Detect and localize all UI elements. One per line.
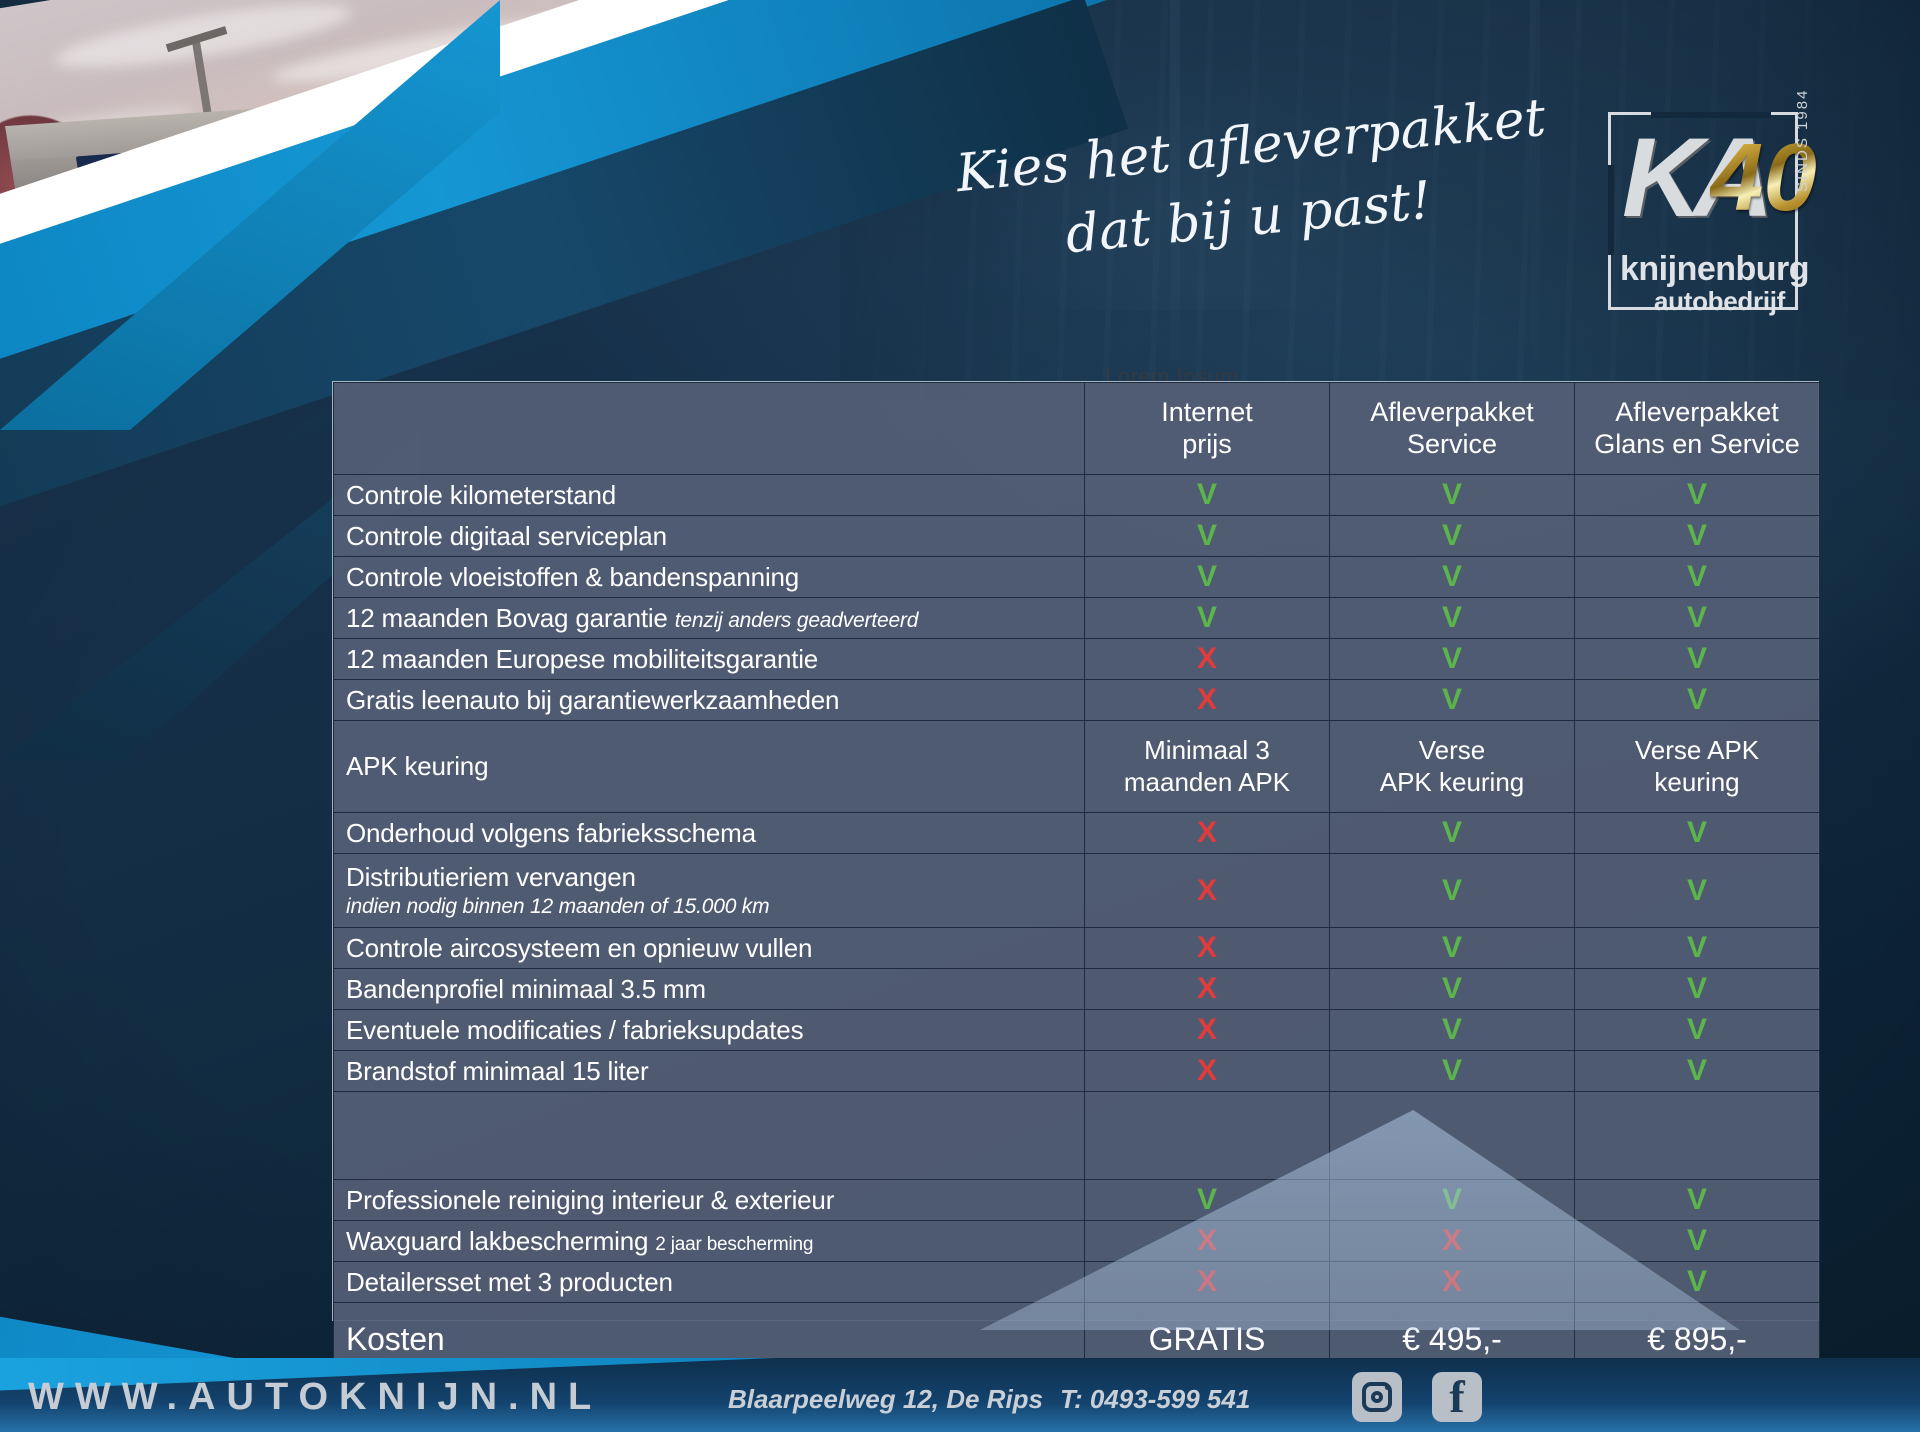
row-label: Distributieriem vervangen: [346, 862, 636, 892]
comparison-table: Internet prijs Afleverpakket Service Afl…: [333, 382, 1820, 1377]
table-row: Detailersset met 3 producten X X V: [334, 1262, 1820, 1303]
table-row: Controle kilometerstand V V V: [334, 475, 1820, 516]
table-row: Controle vloeistoffen & bandenspanning V…: [334, 557, 1820, 598]
row-label: Detailersset met 3 producten: [334, 1262, 1085, 1303]
table-row: Professionele reiniging interieur & exte…: [334, 1180, 1820, 1221]
cell-service: V: [1330, 969, 1575, 1010]
cell-glans: V: [1575, 557, 1820, 598]
row-label: Controle digitaal serviceplan: [334, 516, 1085, 557]
cell-glans: V: [1575, 1221, 1820, 1262]
row-label-with-note: Waxguard lakbescherming 2 jaar beschermi…: [334, 1221, 1085, 1262]
cell-internet: X: [1085, 639, 1330, 680]
row-label: Controle vloeistoffen & bandenspanning: [334, 557, 1085, 598]
row-label: Waxguard lakbescherming: [346, 1226, 648, 1256]
table-header-row: Internet prijs Afleverpakket Service Afl…: [334, 383, 1820, 475]
cell-glans: [1575, 1092, 1820, 1180]
cell-internet: X: [1085, 854, 1330, 928]
cell-service: V: [1330, 680, 1575, 721]
instagram-icon[interactable]: [1352, 1372, 1402, 1422]
cell-service: V: [1330, 813, 1575, 854]
cell-glans: V: [1575, 680, 1820, 721]
row-label-with-note: 12 maanden Bovag garantie tenzij anders …: [334, 598, 1085, 639]
cell-glans-line2: keuring: [1587, 767, 1807, 798]
row-label: 12 maanden Europese mobiliteitsgarantie: [334, 639, 1085, 680]
cell-glans: V: [1575, 969, 1820, 1010]
row-label: 12 maanden Bovag garantie: [346, 603, 668, 633]
row-note: indien nodig binnen 12 maanden of 15.000…: [346, 895, 1072, 919]
row-label: Onderhoud volgens fabrieksschema: [334, 813, 1085, 854]
header-service-line2: Service: [1342, 429, 1562, 461]
cell-service: V: [1330, 516, 1575, 557]
company-address: Blaarpeelweg 12, De Rips: [728, 1384, 1043, 1415]
table-row: Brandstof minimaal 15 liter X V V: [334, 1051, 1820, 1092]
cell-service: X: [1330, 1221, 1575, 1262]
row-note: tenzij anders geadverteerd: [675, 609, 918, 632]
table-row: Gratis leenauto bij garantiewerkzaamhede…: [334, 680, 1820, 721]
cell-glans: V: [1575, 1051, 1820, 1092]
cell-service: V: [1330, 639, 1575, 680]
cell-glans: V: [1575, 639, 1820, 680]
row-label: Controle aircosysteem en opnieuw vullen: [334, 928, 1085, 969]
table-row: Onderhoud volgens fabrieksschema X V V: [334, 813, 1820, 854]
table-row: Waxguard lakbescherming 2 jaar beschermi…: [334, 1221, 1820, 1262]
header-afleverpakket-service: Afleverpakket Service: [1330, 383, 1575, 475]
cell-internet: X: [1085, 969, 1330, 1010]
row-label: Professionele reiniging interieur & exte…: [334, 1180, 1085, 1221]
row-label: [334, 1092, 1085, 1180]
header-afleverpakket-glans-service: Afleverpakket Glans en Service: [1575, 383, 1820, 475]
cell-glans: V: [1575, 813, 1820, 854]
cell-internet: X: [1085, 928, 1330, 969]
cell-internet: Minimaal 3 maanden APK: [1085, 721, 1330, 813]
cell-internet: V: [1085, 598, 1330, 639]
row-label: Gratis leenauto bij garantiewerkzaamhede…: [334, 680, 1085, 721]
cell-glans: Verse APK keuring: [1575, 721, 1820, 813]
cell-internet: X: [1085, 680, 1330, 721]
company-logo: KA 40 knijnenburg autobedrijf SINDS 1984: [1598, 108, 1838, 323]
cell-glans: V: [1575, 475, 1820, 516]
cell-internet: X: [1085, 1262, 1330, 1303]
cell-glans: V: [1575, 1180, 1820, 1221]
footer-baseline: [0, 1432, 1920, 1440]
cell-service: V: [1330, 928, 1575, 969]
header-glans-line2: Glans en Service: [1587, 429, 1807, 461]
cell-service: V: [1330, 854, 1575, 928]
cell-internet: V: [1085, 1180, 1330, 1221]
header-service-line1: Afleverpakket: [1342, 397, 1562, 429]
cell-glans: V: [1575, 1010, 1820, 1051]
page-footer: WWW.AUTOKNIJN.NL Blaarpeelweg 12, De Rip…: [0, 1358, 1920, 1440]
cell-internet: X: [1085, 813, 1330, 854]
table-row-spacer: [334, 1092, 1820, 1180]
cell-service: Verse APK keuring: [1330, 721, 1575, 813]
header-blank: [334, 383, 1085, 475]
cell-glans: V: [1575, 854, 1820, 928]
row-label: Brandstof minimaal 15 liter: [334, 1051, 1085, 1092]
header-internet-line1: Internet: [1097, 397, 1317, 429]
row-label: Controle kilometerstand: [334, 475, 1085, 516]
row-label: Eventuele modificaties / fabrieksupdates: [334, 1010, 1085, 1051]
table-row: Bandenprofiel minimaal 3.5 mm X V V: [334, 969, 1820, 1010]
table-row: 12 maanden Europese mobiliteitsgarantie …: [334, 639, 1820, 680]
table-row: Eventuele modificaties / fabrieksupdates…: [334, 1010, 1820, 1051]
cell-internet-line2: maanden APK: [1097, 767, 1317, 798]
cell-service-line1: Verse: [1342, 735, 1562, 766]
package-comparison-table: Internet prijs Afleverpakket Service Afl…: [332, 381, 1819, 1321]
row-label: APK keuring: [334, 721, 1085, 813]
logo-company-name: knijnenburg: [1620, 250, 1809, 289]
cell-service: V: [1330, 557, 1575, 598]
cell-internet: X: [1085, 1010, 1330, 1051]
cell-service: V: [1330, 475, 1575, 516]
header-glans-line1: Afleverpakket: [1587, 397, 1807, 429]
cell-internet: X: [1085, 1221, 1330, 1262]
website-url[interactable]: WWW.AUTOKNIJN.NL: [28, 1376, 602, 1419]
cell-internet: V: [1085, 516, 1330, 557]
table-row-apk: APK keuring Minimaal 3 maanden APK Verse…: [334, 721, 1820, 813]
row-label-with-note: Distributieriem vervangen indien nodig b…: [334, 854, 1085, 928]
table-row: Controle aircosysteem en opnieuw vullen …: [334, 928, 1820, 969]
cell-glans: V: [1575, 516, 1820, 557]
cell-internet-line1: Minimaal 3: [1097, 735, 1317, 766]
logo-since-text: SINDS 1984: [1794, 89, 1811, 192]
cell-internet: X: [1085, 1051, 1330, 1092]
company-phone[interactable]: T: 0493-599 541: [1060, 1384, 1250, 1415]
cell-service: [1330, 1092, 1575, 1180]
cell-service: X: [1330, 1262, 1575, 1303]
cell-service: V: [1330, 1010, 1575, 1051]
row-label: Bandenprofiel minimaal 3.5 mm: [334, 969, 1085, 1010]
cell-glans: V: [1575, 928, 1820, 969]
cell-service: V: [1330, 1180, 1575, 1221]
header-internet-prijs: Internet prijs: [1085, 383, 1330, 475]
cell-glans: V: [1575, 598, 1820, 639]
cell-internet: V: [1085, 475, 1330, 516]
table-row: Controle digitaal serviceplan V V V: [334, 516, 1820, 557]
cell-glans: V: [1575, 1262, 1820, 1303]
row-note: 2 jaar bescherming: [655, 1234, 813, 1255]
cell-service: V: [1330, 1051, 1575, 1092]
logo-company-subtitle: autobedrijf: [1654, 286, 1785, 317]
table-row: 12 maanden Bovag garantie tenzij anders …: [334, 598, 1820, 639]
cell-service-line2: APK keuring: [1342, 767, 1562, 798]
header-internet-line2: prijs: [1097, 429, 1317, 461]
cell-glans-line1: Verse APK: [1587, 735, 1807, 766]
cell-internet: [1085, 1092, 1330, 1180]
cell-internet: V: [1085, 557, 1330, 598]
cell-service: V: [1330, 598, 1575, 639]
facebook-icon[interactable]: f: [1432, 1372, 1482, 1422]
table-row: Distributieriem vervangen indien nodig b…: [334, 854, 1820, 928]
